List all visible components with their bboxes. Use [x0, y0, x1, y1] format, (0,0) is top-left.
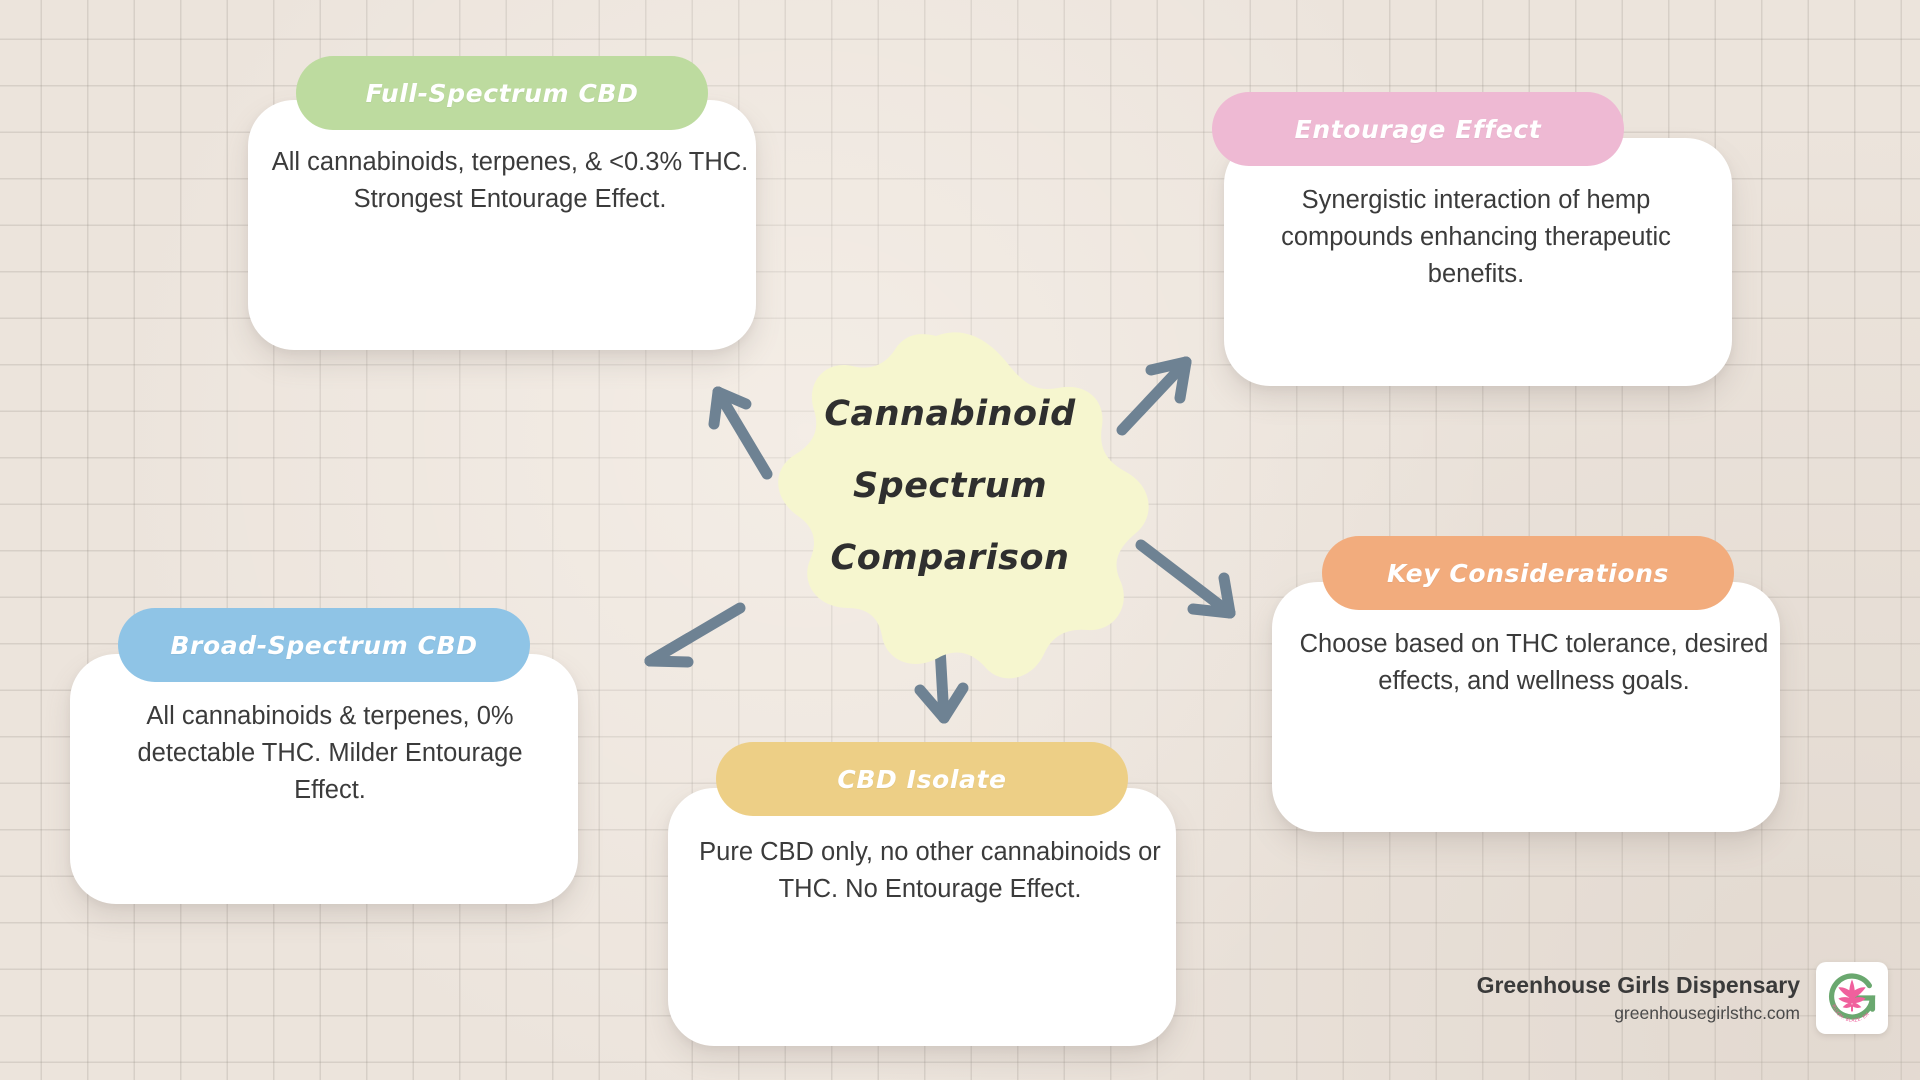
card-text-key-considerations: Choose based on THC tolerance, desired e… [1294, 626, 1774, 700]
card-body-cbd-isolate [668, 788, 1176, 1046]
center-node[interactable]: Cannabinoid Spectrum Comparison [740, 330, 1160, 690]
branding: Greenhouse Girls Dispensary greenhousegi… [1468, 958, 1888, 1038]
card-text-broad-spectrum-cbd: All cannabinoids & terpenes, 0% detectab… [102, 698, 558, 810]
infographic-canvas: All cannabinoids, terpenes, & <0.3% THC.… [0, 0, 1920, 1080]
node-entourage-effect[interactable]: Synergistic interaction of hemp compound… [1212, 92, 1732, 392]
card-title-full-spectrum-cbd[interactable]: Full-Spectrum CBD [296, 56, 708, 130]
brand-url[interactable]: greenhousegirlsthc.com [1477, 1003, 1800, 1024]
card-body-key-considerations [1272, 582, 1780, 832]
node-key-considerations[interactable]: Choose based on THC tolerance, desired e… [1272, 536, 1792, 836]
card-title-key-considerations[interactable]: Key Considerations [1322, 536, 1734, 610]
node-cbd-isolate[interactable]: Pure CBD only, no other cannabinoids or … [668, 742, 1188, 1052]
center-title-line-1: Cannabinoid [792, 378, 1108, 450]
cannabis-leaf-g-logo-icon: BLOOM. BLAZE. EMPOWER. [1821, 967, 1883, 1029]
brand-logo[interactable]: BLOOM. BLAZE. EMPOWER. [1816, 962, 1888, 1034]
card-text-full-spectrum-cbd: All cannabinoids, terpenes, & <0.3% THC.… [270, 144, 750, 218]
card-title-cbd-isolate[interactable]: CBD Isolate [716, 742, 1128, 816]
card-text-entourage-effect: Synergistic interaction of hemp compound… [1250, 182, 1702, 294]
brand-name: Greenhouse Girls Dispensary [1477, 972, 1800, 999]
card-text-cbd-isolate: Pure CBD only, no other cannabinoids or … [676, 834, 1184, 908]
center-title-line-3: Comparison [792, 522, 1108, 594]
node-broad-spectrum-cbd[interactable]: All cannabinoids & terpenes, 0% detectab… [70, 608, 590, 908]
card-title-entourage-effect[interactable]: Entourage Effect [1212, 92, 1624, 166]
card-body-full-spectrum-cbd [248, 100, 756, 350]
arrow-to-broad-spectrum [650, 608, 740, 662]
center-title: Cannabinoid Spectrum Comparison [792, 378, 1108, 594]
brand-text-block: Greenhouse Girls Dispensary greenhousegi… [1477, 972, 1800, 1024]
card-title-broad-spectrum-cbd[interactable]: Broad-Spectrum CBD [118, 608, 530, 682]
center-title-line-2: Spectrum [792, 450, 1108, 522]
node-full-spectrum-cbd[interactable]: All cannabinoids, terpenes, & <0.3% THC.… [248, 56, 768, 356]
